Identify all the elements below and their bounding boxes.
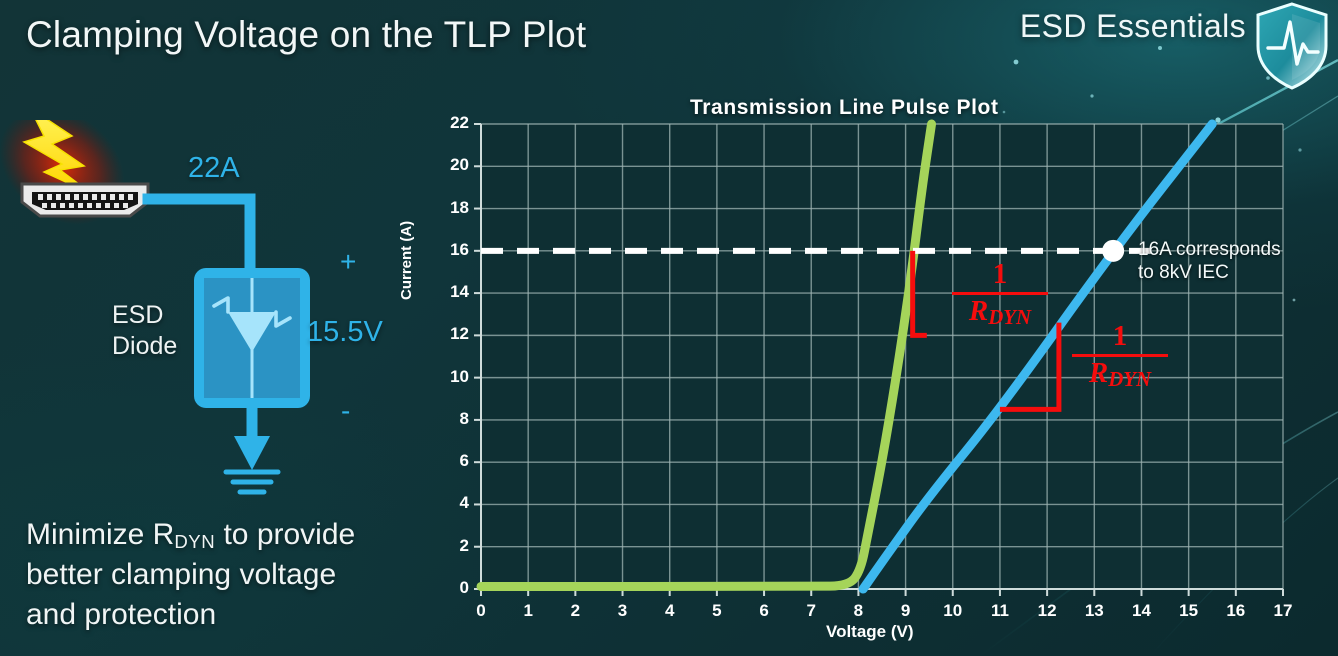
callout-16a-line1: 16A corresponds: [1138, 238, 1281, 261]
chart-x-tick-1: 1: [515, 601, 541, 621]
slope-high-fraction-bar: [1072, 354, 1168, 357]
chart-y-tick-2: 2: [435, 536, 469, 556]
slope-low-numerator: 1: [952, 260, 1048, 289]
chart-x-tick-6: 6: [751, 601, 777, 621]
chart-x-tick-10: 10: [940, 601, 966, 621]
chart-y-tick-10: 10: [435, 367, 469, 387]
slope-low-den-sub: DYN: [988, 305, 1031, 329]
chart-x-tick-8: 8: [845, 601, 871, 621]
chart-x-tick-11: 11: [987, 601, 1013, 621]
chart-x-tick-2: 2: [562, 601, 588, 621]
chart-x-tick-17: 17: [1270, 601, 1296, 621]
chart-x-tick-3: 3: [610, 601, 636, 621]
chart-x-tick-5: 5: [704, 601, 730, 621]
chart-y-tick-6: 6: [435, 451, 469, 471]
slide-root: Clamping Voltage on the TLP Plot ESD Ess…: [0, 0, 1338, 656]
slope-low-fraction-bar: [952, 292, 1048, 295]
slope-high-denominator: RDYN: [1072, 358, 1168, 391]
chart-x-tick-15: 15: [1176, 601, 1202, 621]
slope-annotation-high-rdyn: 1 RDYN: [1072, 322, 1168, 391]
chart-y-tick-18: 18: [435, 198, 469, 218]
slope-low-denominator: RDYN: [952, 296, 1048, 329]
chart-x-tick-16: 16: [1223, 601, 1249, 621]
chart-y-tick-16: 16: [435, 240, 469, 260]
chart-x-tick-4: 4: [657, 601, 683, 621]
slope-annotation-low-rdyn: 1 RDYN: [952, 260, 1048, 329]
tlp-chart: Transmission Line Pulse Plot Current (A)…: [0, 0, 1338, 656]
slope-low-den-r: R: [969, 295, 988, 327]
chart-x-tick-9: 9: [893, 601, 919, 621]
chart-y-tick-4: 4: [435, 493, 469, 513]
callout-16a-line2: to 8kV IEC: [1138, 261, 1281, 284]
chart-x-tick-0: 0: [468, 601, 494, 621]
chart-y-tick-12: 12: [435, 324, 469, 344]
slope-high-numerator: 1: [1072, 322, 1168, 351]
operating-point-marker: [1102, 240, 1124, 262]
chart-x-tick-7: 7: [798, 601, 824, 621]
chart-y-tick-8: 8: [435, 409, 469, 429]
chart-y-tick-0: 0: [435, 578, 469, 598]
chart-x-tick-14: 14: [1128, 601, 1154, 621]
slope-high-den-r: R: [1089, 357, 1108, 389]
callout-16a: 16A corresponds to 8kV IEC: [1138, 238, 1281, 284]
chart-x-tick-12: 12: [1034, 601, 1060, 621]
chart-y-tick-20: 20: [435, 155, 469, 175]
chart-y-tick-22: 22: [435, 113, 469, 133]
chart-y-tick-14: 14: [435, 282, 469, 302]
chart-x-tick-13: 13: [1081, 601, 1107, 621]
slope-high-den-sub: DYN: [1108, 367, 1151, 391]
